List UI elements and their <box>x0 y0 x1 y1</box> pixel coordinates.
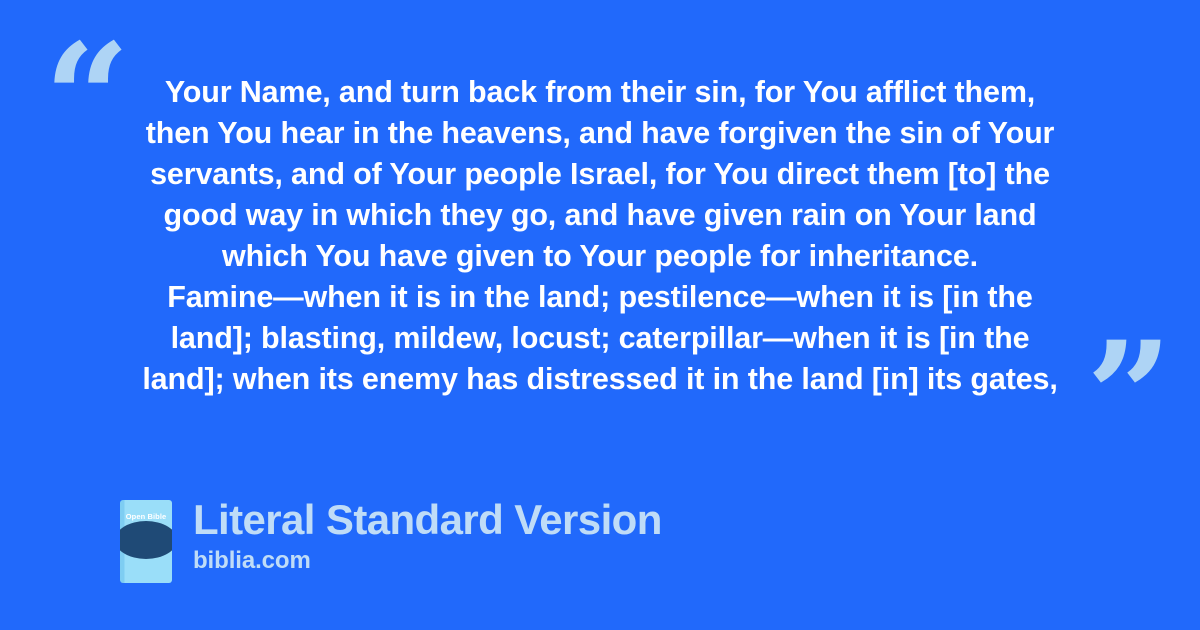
quote-line: Famine—when it is in the land; pestilenc… <box>110 277 1090 318</box>
book-band-label: Open Bible <box>120 512 172 521</box>
closing-quote-icon: ” <box>1086 322 1172 472</box>
quote-line: Your Name, and turn back from their sin,… <box>110 72 1090 113</box>
brand-text-block: Literal Standard Version biblia.com <box>193 496 662 576</box>
branding-footer: Open Bible Literal Standard Version bibl… <box>120 500 662 583</box>
quote-line: land]; blasting, mildew, locust; caterpi… <box>110 318 1090 359</box>
bible-verse-card: “ ” Your Name, and turn back from their … <box>0 0 1200 630</box>
quote-line: land]; when its enemy has distressed it … <box>110 359 1090 400</box>
quote-text-block: Your Name, and turn back from their sin,… <box>110 72 1090 400</box>
bible-version-title: Literal Standard Version <box>193 496 662 544</box>
book-band <box>120 521 172 559</box>
site-url[interactable]: biblia.com <box>193 546 662 576</box>
open-bible-book-icon: Open Bible <box>120 500 172 583</box>
quote-line: then You hear in the heavens, and have f… <box>110 113 1090 154</box>
quote-line: good way in which they go, and have give… <box>110 195 1090 236</box>
quote-line: which You have given to Your people for … <box>110 236 1090 277</box>
quote-line: servants, and of Your people Israel, for… <box>110 154 1090 195</box>
